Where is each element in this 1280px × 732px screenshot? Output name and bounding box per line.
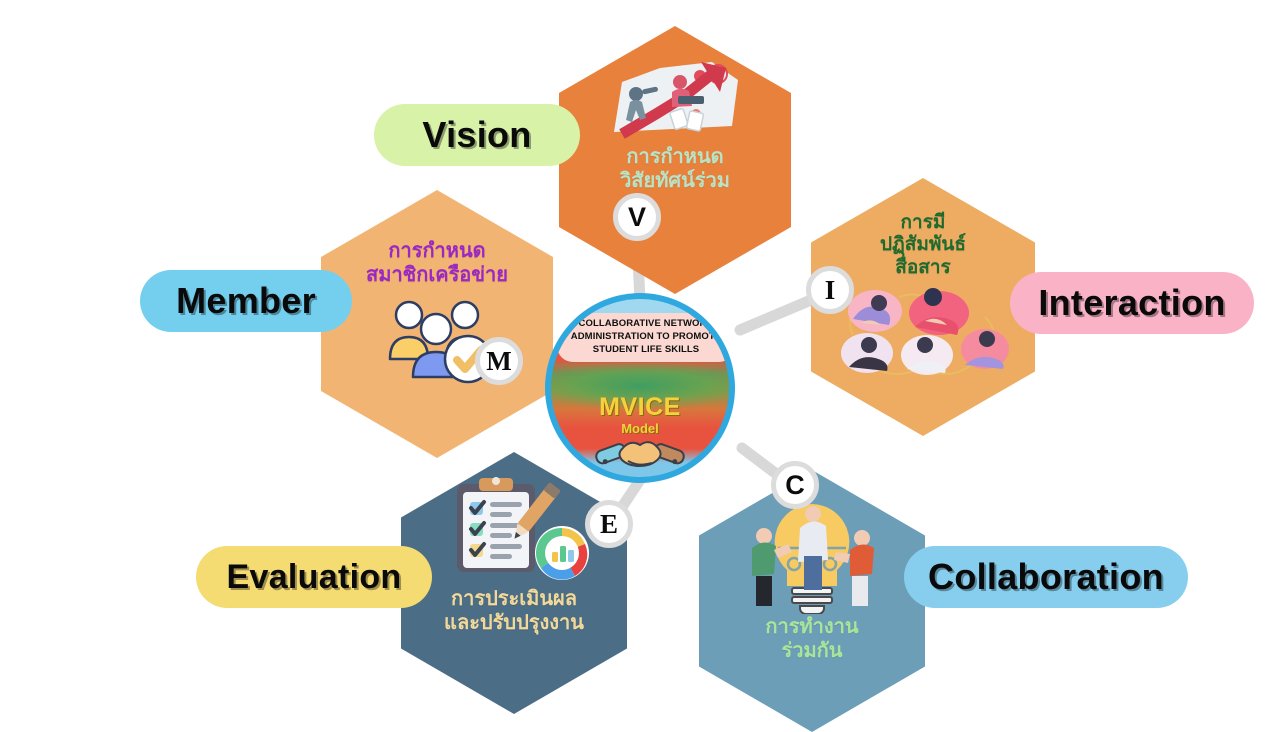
badge-letter-e[interactable]: E bbox=[585, 500, 633, 548]
pill-label-interaction[interactable]: Interaction bbox=[1010, 272, 1254, 334]
handshake-icon bbox=[594, 423, 686, 475]
center-model-circle[interactable]: COLLABORATIVE NETWORK ADMINISTRATION TO … bbox=[545, 293, 735, 483]
hex-label-interaction: การมี ปฏิสัมพันธ์ สื่อสาร bbox=[880, 212, 966, 279]
hex-label-member: การกำหนด สมาชิกเครือข่าย bbox=[366, 240, 508, 287]
hex-node-member[interactable]: การกำหนด สมาชิกเครือข่าย bbox=[321, 190, 553, 458]
badge-letter-v[interactable]: V bbox=[613, 193, 661, 241]
growth-arrow-people-icon bbox=[559, 52, 791, 144]
badge-letter-m[interactable]: M bbox=[475, 337, 523, 385]
hex-label-evaluation: การประเมินผล และปรับปรุงงาน bbox=[444, 588, 584, 635]
hex-node-collaboration[interactable]: การทำงาน ร่วมกัน bbox=[699, 470, 925, 732]
model-acronym: MVICE bbox=[551, 395, 729, 420]
pill-label-collaboration[interactable]: Collaboration bbox=[904, 546, 1188, 608]
mvice-model-diagram: การกำหนด วิสัยทัศน์ร่วม การกำหนด สมาชิกเ… bbox=[0, 0, 1280, 720]
lightbulb-puzzle-teamwork-icon bbox=[699, 498, 925, 614]
badge-letter-c[interactable]: C bbox=[771, 461, 819, 509]
hex-label-vision: การกำหนด วิสัยทัศน์ร่วม bbox=[620, 146, 730, 193]
hex-label-collaboration: การทำงาน ร่วมกัน bbox=[765, 616, 858, 663]
badge-letter-i[interactable]: I bbox=[806, 266, 854, 314]
pill-label-member[interactable]: Member bbox=[140, 270, 352, 332]
hex-node-evaluation[interactable]: การประเมินผล และปรับปรุงงาน bbox=[401, 452, 627, 714]
pill-label-evaluation[interactable]: Evaluation bbox=[196, 546, 432, 608]
pill-label-vision[interactable]: Vision bbox=[374, 104, 580, 166]
hex-node-vision[interactable]: การกำหนด วิสัยทัศน์ร่วม bbox=[559, 26, 791, 294]
center-headline: COLLABORATIVE NETWORK ADMINISTRATION TO … bbox=[557, 313, 729, 362]
